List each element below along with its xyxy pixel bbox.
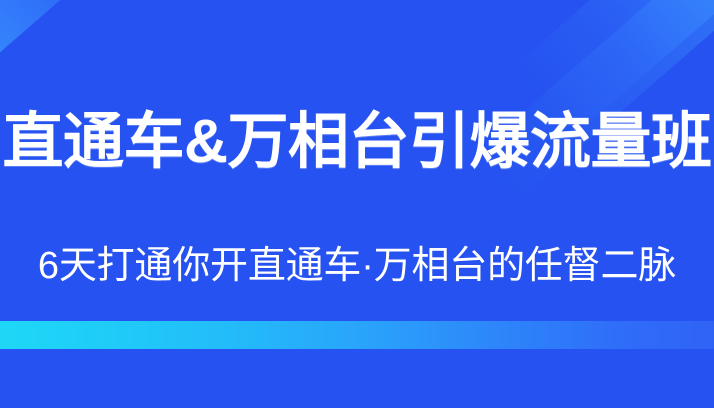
banner-text-group: 直通车&万相台引爆流量班 6天打通你开直通车·万相台的任督二脉 bbox=[0, 0, 714, 408]
banner-title: 直通车&万相台引爆流量班 bbox=[0, 104, 714, 178]
banner-subtitle: 6天打通你开直通车·万相台的任督二脉 bbox=[0, 240, 714, 292]
promo-banner: 直通车&万相台引爆流量班 6天打通你开直通车·万相台的任督二脉 bbox=[0, 0, 714, 408]
